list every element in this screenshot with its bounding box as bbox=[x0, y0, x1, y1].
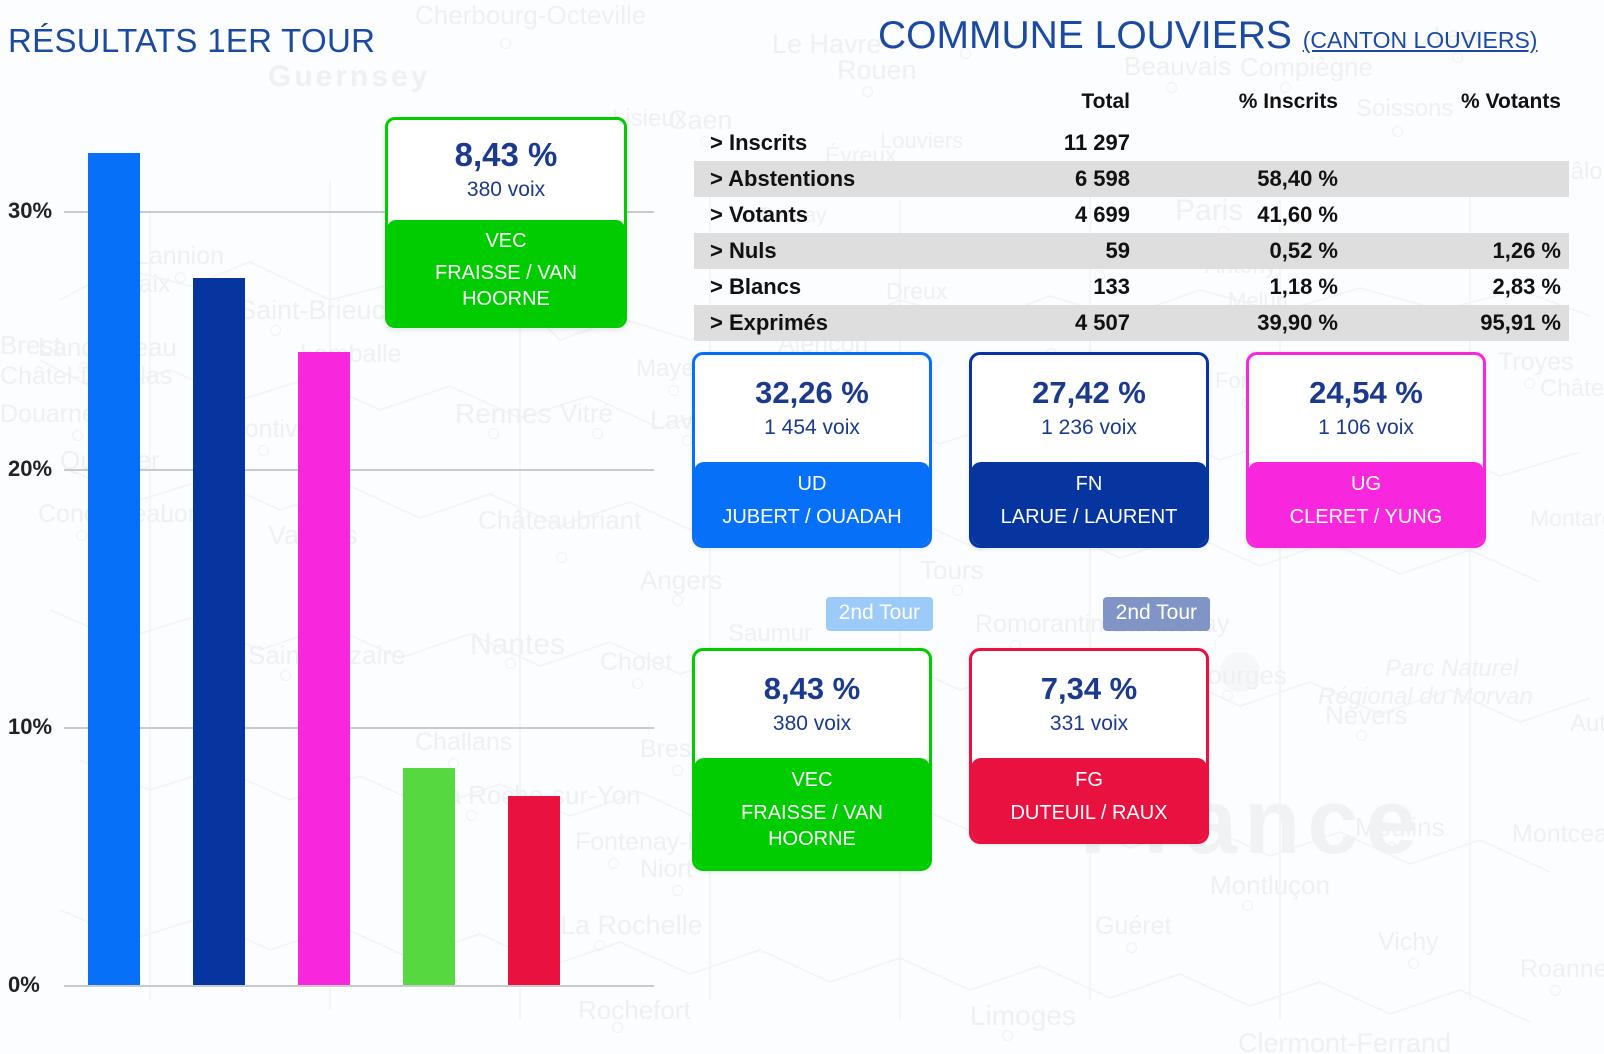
col-label bbox=[694, 90, 974, 125]
map-city-label: Parc Naturel bbox=[1385, 655, 1518, 683]
candidate-party: FG bbox=[979, 769, 1199, 792]
table-row: > Inscrits11 297 bbox=[694, 125, 1569, 161]
row-inscrits: 41,60 % bbox=[1164, 197, 1364, 233]
candidate-percentage: 27,42 % bbox=[978, 375, 1200, 411]
candidate-card-slot: 8,43 %380 voixVECFRAISSE / VAN HOORNE bbox=[692, 648, 932, 871]
col-pct-votants: % Votants bbox=[1364, 90, 1569, 125]
candidate-card-bottom: FNLARUE / LAURENT bbox=[971, 462, 1207, 546]
candidate-party: FN bbox=[979, 473, 1199, 496]
chart-bar[interactable] bbox=[403, 768, 455, 985]
row-label[interactable]: > Nuls bbox=[694, 233, 974, 269]
map-city-label: Tours bbox=[920, 555, 984, 586]
map-city-label: Clermont-Ferrand bbox=[1238, 1028, 1451, 1054]
candidate-names: CLERET / YUNG bbox=[1256, 504, 1476, 530]
row-votants bbox=[1364, 161, 1569, 197]
map-city-dot bbox=[1356, 730, 1367, 741]
table-row: > Votants4 69941,60 % bbox=[694, 197, 1569, 233]
bar-hover-tooltip: 8,43 % 380 voix VEC FRAISSE / VAN HOORNE bbox=[385, 117, 627, 328]
row-votants bbox=[1364, 197, 1569, 233]
chart-bar[interactable] bbox=[508, 796, 560, 985]
candidate-card[interactable]: 32,26 %1 454 voixUDJUBERT / OUADAH bbox=[692, 352, 932, 548]
row-label[interactable]: > Votants bbox=[694, 197, 974, 233]
candidate-card[interactable]: 24,54 %1 106 voixUGCLERET / YUNG bbox=[1246, 352, 1486, 548]
map-city-dot bbox=[672, 765, 683, 776]
candidate-card-bottom: VECFRAISSE / VAN HOORNE bbox=[694, 758, 930, 869]
tooltip-top: 8,43 % 380 voix bbox=[388, 120, 624, 220]
candidate-card-bottom: UGCLERET / YUNG bbox=[1248, 462, 1484, 546]
candidate-votes: 331 voix bbox=[978, 712, 1200, 736]
table-row: > Abstentions6 59858,40 % bbox=[694, 161, 1569, 197]
chart-y-tick-label: 20% bbox=[8, 456, 52, 482]
map-city-label: Châteaudun bbox=[1540, 375, 1604, 403]
map-city-label: Saumur bbox=[728, 620, 812, 648]
row-inscrits: 39,90 % bbox=[1164, 305, 1364, 341]
col-total: Total bbox=[974, 90, 1164, 125]
candidate-card[interactable]: 8,43 %380 voixVECFRAISSE / VAN HOORNE bbox=[692, 648, 932, 871]
map-city-label: Guéret bbox=[1095, 912, 1171, 941]
page-title-right: COMMUNE LOUVIERS (CANTON LOUVIERS) bbox=[878, 14, 1537, 58]
candidate-card[interactable]: 27,42 %1 236 voixFNLARUE / LAURENT bbox=[969, 352, 1209, 548]
candidate-card-top: 8,43 %380 voix bbox=[695, 651, 929, 758]
row-votants: 95,91 % bbox=[1364, 305, 1569, 341]
candidate-card-top: 27,42 %1 236 voix bbox=[972, 355, 1206, 462]
tooltip-votes: 380 voix bbox=[394, 178, 618, 202]
chart-y-tick-label: 10% bbox=[8, 714, 52, 740]
map-city-label: Montargis bbox=[1530, 505, 1604, 532]
map-city-dot bbox=[672, 885, 683, 896]
map-city-label: Cherbourg-Octeville bbox=[415, 0, 646, 31]
chart-bar[interactable] bbox=[193, 278, 245, 985]
map-city-dot bbox=[672, 595, 683, 606]
map-city-dot bbox=[1222, 690, 1233, 701]
page-title-left: RÉSULTATS 1ER TOUR bbox=[8, 22, 375, 60]
second-round-badge: 2nd Tour bbox=[826, 597, 933, 631]
chart-y-tick-label: 0% bbox=[8, 972, 40, 998]
candidate-votes: 380 voix bbox=[701, 712, 923, 736]
row-label[interactable]: > Blancs bbox=[694, 269, 974, 305]
map-city-label: Moulins bbox=[1355, 812, 1445, 843]
candidate-percentage: 24,54 % bbox=[1255, 375, 1477, 411]
candidate-card-top: 7,34 %331 voix bbox=[972, 651, 1206, 758]
candidate-card[interactable]: 7,34 %331 voixFGDUTEUIL / RAUX bbox=[969, 648, 1209, 844]
map-city-label: Autun bbox=[1570, 710, 1604, 738]
map-city-dot bbox=[952, 585, 963, 596]
candidate-names: JUBERT / OUADAH bbox=[702, 504, 922, 530]
candidate-card-top: 24,54 %1 106 voix bbox=[1249, 355, 1483, 462]
tooltip-bottom: VEC FRAISSE / VAN HOORNE bbox=[387, 220, 625, 326]
candidate-card-bottom: UDJUBERT / OUADAH bbox=[694, 462, 930, 546]
row-votants: 2,83 % bbox=[1364, 269, 1569, 305]
map-city-label: Limoges bbox=[970, 1000, 1076, 1032]
candidate-votes: 1 106 voix bbox=[1255, 416, 1477, 440]
row-inscrits: 0,52 % bbox=[1164, 233, 1364, 269]
map-city-dot bbox=[1550, 985, 1561, 996]
tooltip-percentage: 8,43 % bbox=[394, 136, 618, 174]
chart-y-tick-label: 30% bbox=[8, 198, 52, 224]
map-city-label: Montceau bbox=[1512, 820, 1604, 849]
candidate-card-slot: 7,34 %331 voixFGDUTEUIL / RAUX bbox=[969, 648, 1209, 844]
row-total: 11 297 bbox=[974, 125, 1164, 161]
table-row: > Blancs1331,18 %2,83 % bbox=[694, 269, 1569, 305]
table-row: > Exprimés4 50739,90 %95,91 % bbox=[694, 305, 1569, 341]
candidate-card-bottom: FGDUTEUIL / RAUX bbox=[971, 758, 1207, 842]
chart-bar[interactable] bbox=[298, 352, 350, 985]
map-city-label: Montluçon bbox=[1210, 870, 1330, 901]
map-city-dot bbox=[500, 38, 511, 49]
map-city-label: Rouen bbox=[837, 55, 917, 86]
tooltip-candidates: FRAISSE / VAN HOORNE bbox=[395, 260, 617, 312]
candidate-card-top: 32,26 %1 454 voix bbox=[695, 355, 929, 462]
tooltip-party: VEC bbox=[395, 230, 617, 253]
row-total: 133 bbox=[974, 269, 1164, 305]
row-label[interactable]: > Abstentions bbox=[694, 161, 974, 197]
map-city-dot bbox=[1126, 942, 1137, 953]
map-city-label: Vichy bbox=[1378, 928, 1439, 957]
map-city-label: Nevers bbox=[1325, 700, 1407, 731]
second-round-badge: 2nd Tour bbox=[1103, 597, 1210, 631]
row-label[interactable]: > Exprimés bbox=[694, 305, 974, 341]
candidate-party: UD bbox=[702, 473, 922, 496]
map-city-dot bbox=[1408, 958, 1419, 969]
map-city-dot bbox=[1524, 378, 1535, 389]
table-row: > Nuls590,52 %1,26 % bbox=[694, 233, 1569, 269]
candidate-card-slot: 32,26 %1 454 voixUDJUBERT / OUADAH2nd To… bbox=[692, 352, 932, 548]
row-inscrits: 58,40 % bbox=[1164, 161, 1364, 197]
candidate-names: LARUE / LAURENT bbox=[979, 504, 1199, 530]
candidate-percentage: 32,26 % bbox=[701, 375, 923, 411]
participation-stats-table: Total % Inscrits % Votants > Inscrits11 … bbox=[694, 90, 1569, 341]
chart-gridline bbox=[64, 469, 654, 471]
row-total: 4 699 bbox=[974, 197, 1164, 233]
map-city-dot bbox=[1386, 842, 1397, 853]
row-votants: 1,26 % bbox=[1364, 233, 1569, 269]
candidate-votes: 1 236 voix bbox=[978, 416, 1200, 440]
row-votants bbox=[1364, 125, 1569, 161]
candidate-card-slot: 24,54 %1 106 voixUGCLERET / YUNG bbox=[1246, 352, 1486, 548]
map-city-dot bbox=[1002, 1030, 1013, 1041]
candidate-percentage: 7,34 % bbox=[978, 671, 1200, 707]
row-inscrits bbox=[1164, 125, 1364, 161]
candidate-votes: 1 454 voix bbox=[701, 416, 923, 440]
chart-bar[interactable] bbox=[88, 153, 140, 985]
candidate-card-slot: 27,42 %1 236 voixFNLARUE / LAURENT2nd To… bbox=[969, 352, 1209, 548]
chart-gridline bbox=[64, 727, 654, 729]
candidate-party: VEC bbox=[702, 769, 922, 792]
row-total: 4 507 bbox=[974, 305, 1164, 341]
commune-name: COMMUNE LOUVIERS bbox=[878, 14, 1292, 57]
map-city-label: Troyes bbox=[1498, 348, 1573, 377]
row-label[interactable]: > Inscrits bbox=[694, 125, 974, 161]
table-header-row: Total % Inscrits % Votants bbox=[694, 90, 1569, 125]
candidate-percentage: 8,43 % bbox=[701, 671, 923, 707]
map-city-label: Régional du Morvan bbox=[1318, 683, 1533, 711]
candidate-names: DUTEUIL / RAUX bbox=[979, 800, 1199, 826]
map-city-label: Guernsey bbox=[268, 60, 430, 94]
map-city-dot bbox=[1242, 900, 1253, 911]
canton-link[interactable]: (CANTON LOUVIERS) bbox=[1303, 27, 1538, 53]
candidate-party: UG bbox=[1256, 473, 1476, 496]
row-inscrits: 1,18 % bbox=[1164, 269, 1364, 305]
map-city-label: Roanne bbox=[1520, 955, 1604, 984]
map-city-label: Le Havre bbox=[772, 29, 882, 60]
row-total: 6 598 bbox=[974, 161, 1164, 197]
chart-gridline bbox=[64, 985, 654, 987]
candidate-names: FRAISSE / VAN HOORNE bbox=[702, 800, 922, 853]
row-total: 59 bbox=[974, 233, 1164, 269]
col-pct-inscrits: % Inscrits bbox=[1164, 90, 1364, 125]
